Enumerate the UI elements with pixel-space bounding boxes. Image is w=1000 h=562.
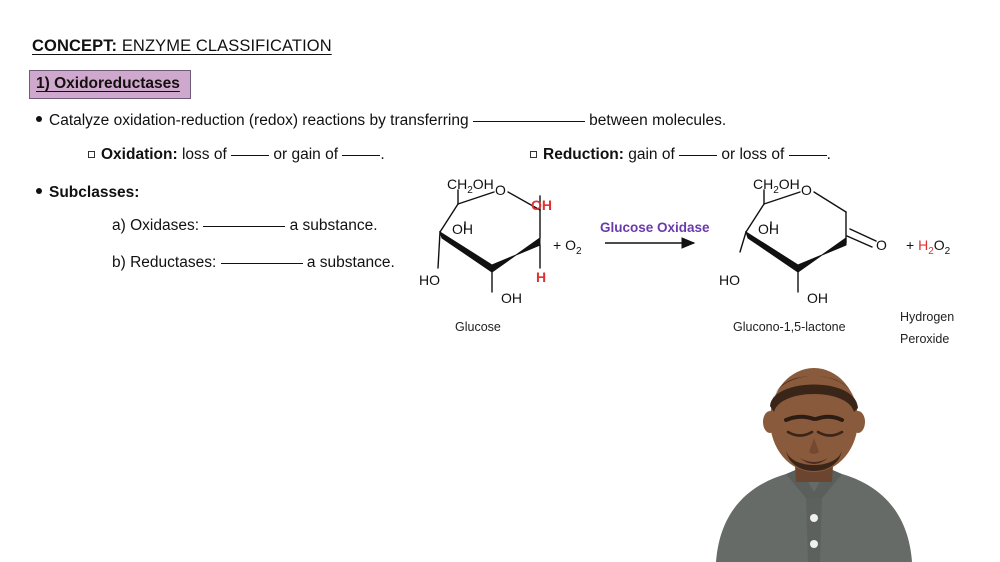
glucose-anomeric-oh-label: OH bbox=[531, 197, 552, 213]
presenter-button-top bbox=[810, 514, 818, 522]
oxidation-label: Oxidation: bbox=[101, 146, 178, 163]
glucose-ch2oh-label: CH2OH bbox=[447, 176, 494, 196]
peroxide-plus: + bbox=[906, 237, 918, 253]
subclass-oxidases: a) Oxidases: a substance. bbox=[112, 217, 378, 234]
section-heading-label: 1) Oxidoreductases bbox=[36, 75, 180, 92]
peroxide-h: H bbox=[918, 237, 928, 253]
reduction-text-pre: gain of bbox=[624, 146, 679, 163]
fill-blank-oxidases bbox=[203, 226, 285, 227]
catalyze-text-pre: Catalyze oxidation-reduction (redox) rea… bbox=[49, 112, 473, 129]
bullet-subclasses: Subclasses: bbox=[36, 184, 139, 201]
atom-oh: OH bbox=[473, 176, 494, 192]
glucose-caption: Glucose bbox=[455, 320, 501, 334]
presenter-video bbox=[686, 358, 942, 562]
oxidases-text-post: a substance. bbox=[285, 217, 377, 234]
concept-keyword: CONCEPT: bbox=[32, 37, 117, 55]
lactone-carbonyl-oxygen-label: O bbox=[876, 237, 887, 253]
lactone-c4-ho-label: HO bbox=[719, 272, 740, 288]
fill-blank-reduction-1 bbox=[679, 155, 717, 156]
fill-blank-reductases bbox=[221, 263, 303, 264]
lactone-c2-oh-label: OH bbox=[807, 290, 828, 306]
presenter-ear-right bbox=[851, 411, 865, 433]
glucose-structure bbox=[438, 190, 540, 292]
presenter-ear-left bbox=[763, 411, 777, 433]
glucose-anomeric-h-label: H bbox=[536, 269, 546, 285]
presenter-button-bottom bbox=[810, 540, 818, 548]
page-title: CONCEPT: ENZYME CLASSIFICATION bbox=[32, 37, 332, 56]
lactone-ch2oh-label: CH2OH bbox=[753, 176, 800, 196]
lactone-ring-oxygen-label: O bbox=[801, 182, 812, 198]
square-bullet-icon bbox=[530, 151, 537, 158]
bullet-catalyze: Catalyze oxidation-reduction (redox) rea… bbox=[36, 112, 726, 129]
reductases-text-post: a substance. bbox=[303, 254, 395, 271]
fill-blank-oxidation-1 bbox=[231, 155, 269, 156]
atom-c: CH bbox=[753, 176, 773, 192]
catalyze-text-post: between molecules. bbox=[585, 112, 726, 129]
lactone-c3-oh-label: OH bbox=[758, 221, 779, 237]
atom-c: CH bbox=[447, 176, 467, 192]
oxidases-text-pre: a) Oxidases: bbox=[112, 217, 203, 234]
bullet-reduction: Reduction: gain of or loss of . bbox=[530, 146, 831, 163]
reduction-text-post: . bbox=[827, 146, 831, 163]
glucose-c4-ho-label: HO bbox=[419, 272, 440, 288]
peroxide-label: + H2O2 bbox=[906, 237, 950, 257]
bullet-dot-icon bbox=[36, 188, 42, 194]
glucose-ring-oxygen-label: O bbox=[495, 182, 506, 198]
peroxide-caption-line1: Hydrogen bbox=[900, 310, 954, 324]
oxygen-sub: 2 bbox=[576, 246, 582, 257]
oxidation-text-pre: loss of bbox=[178, 146, 231, 163]
reaction-arrow bbox=[605, 238, 694, 248]
peroxide-caption-line2: Peroxide bbox=[900, 332, 949, 346]
fill-blank-transferring bbox=[473, 121, 585, 122]
reduction-label: Reduction: bbox=[543, 146, 624, 163]
atom-oh: OH bbox=[779, 176, 800, 192]
oxidation-text-mid: or gain of bbox=[269, 146, 342, 163]
enzyme-name-label: Glucose Oxidase bbox=[600, 220, 710, 235]
peroxide-o: O bbox=[934, 237, 945, 253]
bullet-oxidation: Oxidation: loss of or gain of . bbox=[88, 146, 385, 163]
lactone-caption: Glucono-1,5-lactone bbox=[733, 320, 846, 334]
peroxide-o-sub: 2 bbox=[945, 246, 951, 257]
oxygen-term: + O bbox=[553, 237, 576, 253]
bullet-dot-icon bbox=[36, 116, 42, 122]
presenter-placket bbox=[806, 498, 822, 562]
glucose-c3-oh-label: OH bbox=[452, 221, 473, 237]
oxidation-text-post: . bbox=[380, 146, 384, 163]
concept-subject: ENZYME CLASSIFICATION bbox=[117, 37, 332, 55]
subclass-reductases: b) Reductases: a substance. bbox=[112, 254, 395, 271]
lactone-structure bbox=[740, 190, 876, 292]
oxygen-reactant-label: + O2 bbox=[553, 237, 582, 257]
fill-blank-reduction-2 bbox=[789, 155, 827, 156]
glucose-c2-oh-label: OH bbox=[501, 290, 522, 306]
section-heading-box: 1) Oxidoreductases bbox=[29, 70, 191, 99]
fill-blank-oxidation-2 bbox=[342, 155, 380, 156]
reductases-text-pre: b) Reductases: bbox=[112, 254, 221, 271]
presenter-illustration bbox=[686, 358, 942, 562]
subclasses-label: Subclasses: bbox=[49, 184, 139, 201]
reduction-text-mid: or loss of bbox=[717, 146, 789, 163]
square-bullet-icon bbox=[88, 151, 95, 158]
